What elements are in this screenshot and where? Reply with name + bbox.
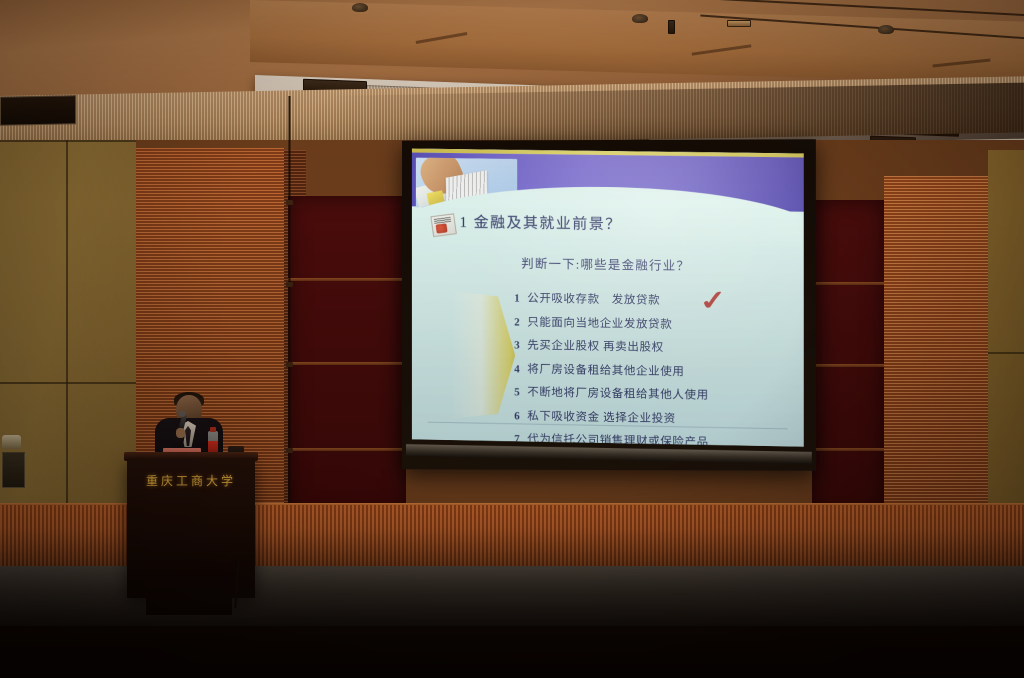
list-item-text: 不断地将厂房设备租给其他人使用	[527, 384, 709, 403]
list-item: 7 代为信托公司销售理财或保险产品	[514, 430, 784, 446]
audience-shadow-overlay	[0, 528, 1024, 678]
projection-screen[interactable]: 1 金融及其就业前景？ 判断一下:哪些是金融行业？ 1 公开吸收存款 发放贷款 …	[402, 139, 816, 470]
acoustic-panel-right	[812, 200, 884, 515]
ceiling-fixture	[668, 20, 675, 34]
door-lock-plate	[2, 452, 25, 488]
list-item-number: 4	[514, 363, 520, 375]
list-item-number: 3	[514, 339, 520, 351]
list-item-number: 2	[514, 316, 520, 328]
far-right-olive-wall	[988, 150, 1024, 550]
acoustic-panel-divider	[288, 362, 406, 365]
cable-clip	[286, 200, 293, 205]
screen-bottom-bar	[406, 444, 812, 464]
audience-area	[0, 528, 1024, 678]
list-item: 4 将厂房设备租给其他企业使用	[514, 360, 784, 381]
list-item-number: 1	[514, 293, 520, 305]
wall-cable	[288, 96, 291, 516]
acoustic-panel-divider	[812, 448, 884, 451]
slide-subtitle: 判断一下:哪些是金融行业？	[521, 253, 690, 275]
lecture-hall-photo: 1 金融及其就业前景？ 判断一下:哪些是金融行业？ 1 公开吸收存款 发放贷款 …	[0, 0, 1024, 678]
list-item-text: 只能面向当地企业发放贷款	[527, 313, 672, 331]
door-handle[interactable]	[2, 435, 21, 449]
acoustic-panel-divider	[288, 278, 406, 281]
ceiling-spotlight	[632, 14, 648, 23]
slide-bullet-badge-icon	[430, 213, 456, 237]
ceiling-soffit	[250, 0, 1024, 84]
list-item: 2 只能面向当地企业发放贷款	[514, 313, 784, 333]
list-item: 3 先买企业股权 再卖出股权	[514, 336, 784, 357]
list-item: 5 不断地将厂房设备租给其他人使用	[514, 383, 784, 404]
list-item-number: 5	[514, 386, 520, 398]
list-item-number: 6	[514, 410, 520, 422]
cable-clip	[286, 282, 293, 287]
list-item: 1 公开吸收存款 发放贷款	[514, 290, 784, 310]
wall-seam	[0, 382, 136, 384]
acoustic-panel-divider	[812, 364, 884, 367]
projected-slide: 1 金融及其就业前景？ 判断一下:哪些是金融行业？ 1 公开吸收存款 发放贷款 …	[412, 149, 804, 447]
ceiling-strip-light	[727, 20, 751, 27]
acoustic-panel-divider	[288, 448, 406, 451]
speaker-hand	[176, 428, 185, 438]
podium-university-name: 重庆工商大学	[127, 472, 255, 489]
podium-water-bottle-cap	[210, 427, 216, 432]
check-mark-icon: ✓	[698, 288, 738, 311]
cable-clip	[286, 448, 293, 453]
slatted-wood-wall-right	[884, 176, 990, 516]
slide-title: 1 金融及其就业前景？	[460, 211, 622, 234]
list-item-text: 将厂房设备租给其他企业使用	[527, 360, 684, 379]
list-item-text: 先买企业股权 再卖出股权	[527, 337, 663, 355]
list-item-text: 公开吸收存款 发放贷款	[527, 290, 660, 308]
acoustic-panel-divider	[812, 282, 884, 285]
list-item-text: 代为信托公司销售理财或保险产品	[527, 431, 709, 447]
microphone-head	[179, 411, 186, 417]
acoustic-panel-left	[288, 196, 406, 516]
wall-seam	[988, 352, 1024, 354]
upper-wall-window	[0, 95, 76, 126]
wall-seam	[0, 140, 136, 142]
list-item-number: 7	[514, 433, 520, 445]
ceiling-spotlight	[878, 25, 894, 34]
ceiling-spotlight	[352, 3, 368, 12]
cable-clip	[286, 362, 293, 367]
